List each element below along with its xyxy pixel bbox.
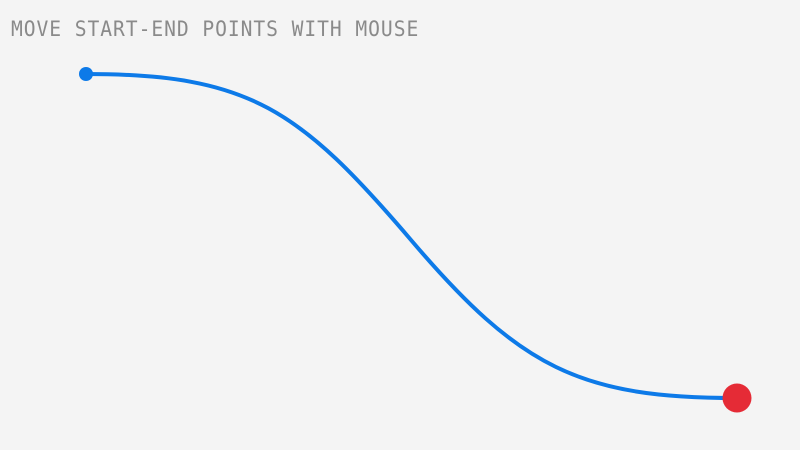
- start-point-handle[interactable]: [79, 67, 93, 81]
- end-point-handle[interactable]: [723, 384, 752, 413]
- curve-canvas[interactable]: MOVE START-END POINTS WITH MOUSE: [0, 0, 800, 450]
- app-root: MOVE START-END POINTS WITH MOUSE: [0, 0, 800, 450]
- page-title: MOVE START-END POINTS WITH MOUSE: [11, 17, 419, 41]
- bezier-scene[interactable]: [0, 0, 800, 450]
- bezier-curve: [86, 74, 737, 398]
